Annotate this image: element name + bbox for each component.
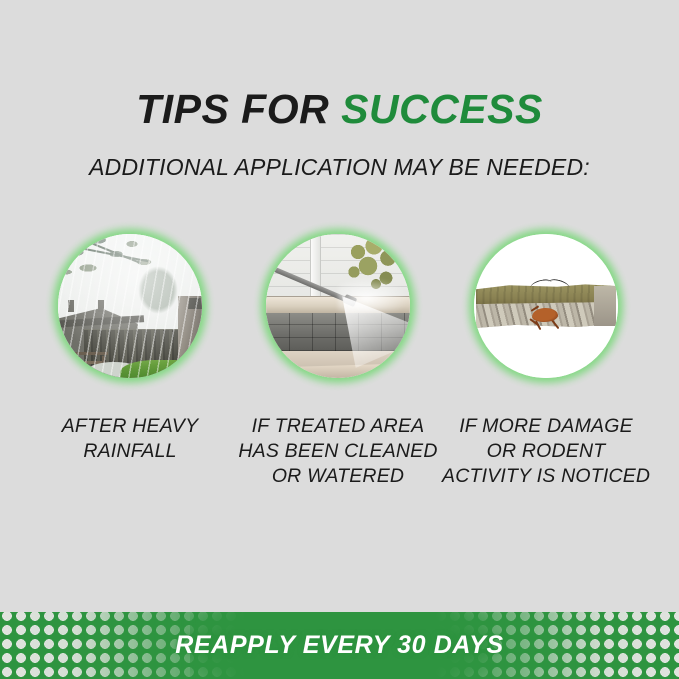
caption-line: RAINFALL [26,439,234,464]
image-circle-row [0,228,679,386]
reapply-banner: REAPPLY EVERY 30 DAYS [0,612,679,679]
tips-for-success-infographic: TIPS FOR SUCCESS ADDITIONAL APPLICATION … [0,0,679,679]
image-circle-after-heavy-rainfall [52,228,208,384]
title-block: TIPS FOR SUCCESS [0,88,679,131]
photo-rainfall [58,234,202,378]
caption-line: HAS BEEN CLEANED [234,439,442,464]
photo-rainfall-scene [58,234,202,378]
image-circle-treated-area-cleaned [260,228,416,384]
photo-wood-damage-scene [474,234,618,378]
caption-line: AFTER HEAVY [26,414,234,439]
caption-row: AFTER HEAVY RAINFALL IF TREATED AREA HAS… [0,414,679,504]
page-title-lead: TIPS FOR [136,86,341,132]
page-title-accent: SUCCESS [341,86,543,132]
water-mist [338,278,408,312]
caption-line: ACTIVITY IS NOTICED [442,464,650,489]
page-title: TIPS FOR SUCCESS [0,88,679,131]
photo-pressure-washing-scene [266,234,410,378]
caption-after-heavy-rainfall: AFTER HEAVY RAINFALL [26,414,234,464]
caption-line: OR RODENT [442,439,650,464]
rain-haze [58,234,202,378]
photo-wood-damage [474,234,618,378]
photo-pressure-washing [266,234,410,378]
plank-cut-end [594,286,616,326]
page-subtitle: ADDITIONAL APPLICATION MAY BE NEEDED: [0,154,679,181]
caption-line: OR WATERED [234,464,442,489]
caption-line: IF MORE DAMAGE [442,414,650,439]
caption-line: IF TREATED AREA [234,414,442,439]
caption-damage-or-rodent-activity: IF MORE DAMAGE OR RODENT ACTIVITY IS NOT… [442,414,650,489]
image-circle-damage-or-rodent-activity [468,228,624,384]
caption-treated-area-cleaned: IF TREATED AREA HAS BEEN CLEANED OR WATE… [234,414,442,489]
banner-text: REAPPLY EVERY 30 DAYS [0,612,679,679]
